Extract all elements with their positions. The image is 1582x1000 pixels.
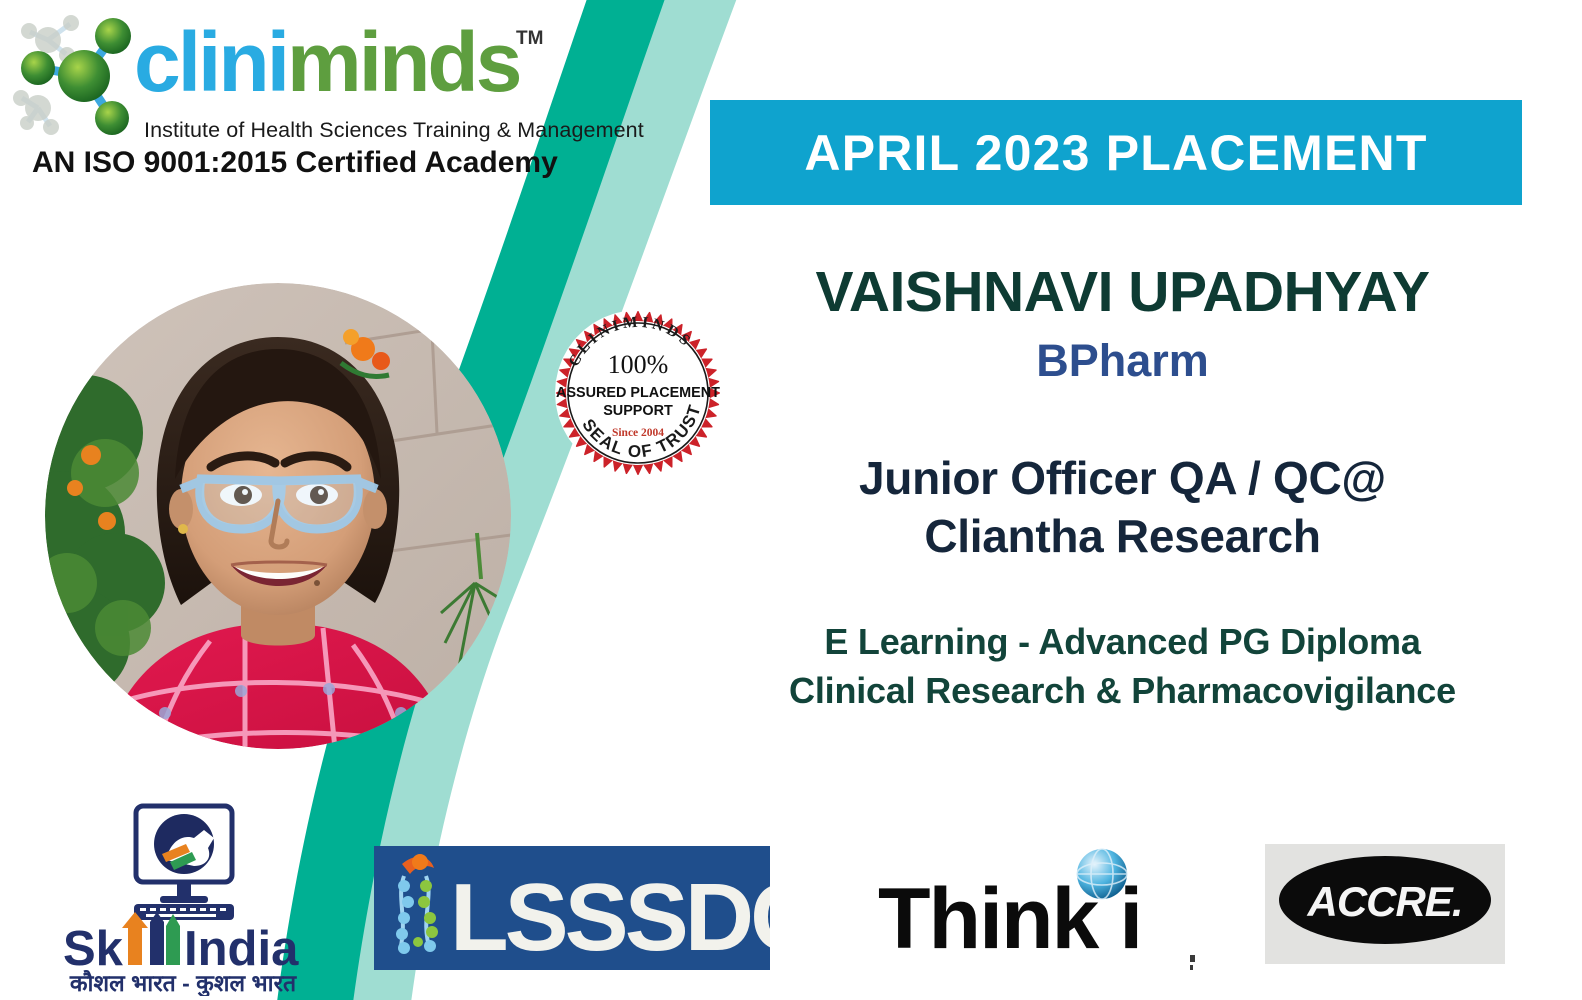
logo-wordmark: cliniminds	[134, 20, 519, 104]
logo-word-minds: minds	[287, 15, 519, 109]
candidate-details: VAISHNAVI UPADHYAY BPharm Junior Officer…	[690, 262, 1555, 715]
molecule-icon	[8, 10, 138, 146]
trademark-symbol: TM	[516, 28, 543, 50]
banner-title: APRIL 2023 PLACEMENT	[804, 124, 1427, 182]
course-name: E Learning - Advanced PG Diploma Clinica…	[690, 618, 1555, 714]
job-title: Junior Officer QA / QC@ Cliantha Researc…	[690, 449, 1555, 567]
seal-line2: SUPPORT	[603, 403, 673, 419]
logo-word-clini: clini	[134, 15, 287, 109]
seal-percent: 100%	[608, 350, 669, 379]
skill-india-word-part1: Sk	[63, 922, 124, 976]
partner-logo-lsssdc: LSSSDC	[374, 846, 770, 970]
course-line-1: E Learning - Advanced PG Diploma	[690, 618, 1555, 666]
placement-announcement-card: cliniminds TM Institute of Health Scienc…	[0, 0, 1582, 1000]
skill-india-tagline: कौशल भारत - कुशल भारत	[69, 969, 297, 996]
cliniminds-logo: cliniminds TM Institute of Health Scienc…	[8, 6, 548, 186]
partner-logo-think-i: Think i	[832, 838, 1162, 988]
placement-banner: APRIL 2023 PLACEMENT	[710, 100, 1522, 205]
partner-logo-accre: ACCRE.	[1265, 844, 1505, 964]
candidate-photo	[45, 283, 511, 749]
candidate-name: VAISHNAVI UPADHYAY	[690, 262, 1555, 324]
course-line-2: Clinical Research & Pharmacovigilance	[690, 667, 1555, 715]
candidate-degree: BPharm	[690, 338, 1555, 383]
skill-india-word-part3: India	[184, 922, 299, 976]
monitor-hand-wrench-icon	[134, 806, 234, 920]
partner-logo-skill-india: Sk India कौशल भारत - कुशल भारत	[58, 800, 308, 996]
iso-certification-text: AN ISO 9001:2015 Certified Academy	[32, 146, 558, 180]
job-title-line-2: Cliantha Research	[690, 507, 1555, 566]
think-i-wordmark: Think i	[878, 871, 1141, 967]
logo-tagline: Institute of Health Sciences Training & …	[144, 118, 644, 143]
accre-wordmark: ACCRE.	[1306, 878, 1462, 925]
artifact-mark	[1190, 955, 1195, 971]
seal-since: Since 2004	[612, 427, 664, 439]
job-title-line-1: Junior Officer QA / QC@	[690, 449, 1555, 508]
lsssdc-wordmark: LSSSDC	[450, 864, 770, 970]
